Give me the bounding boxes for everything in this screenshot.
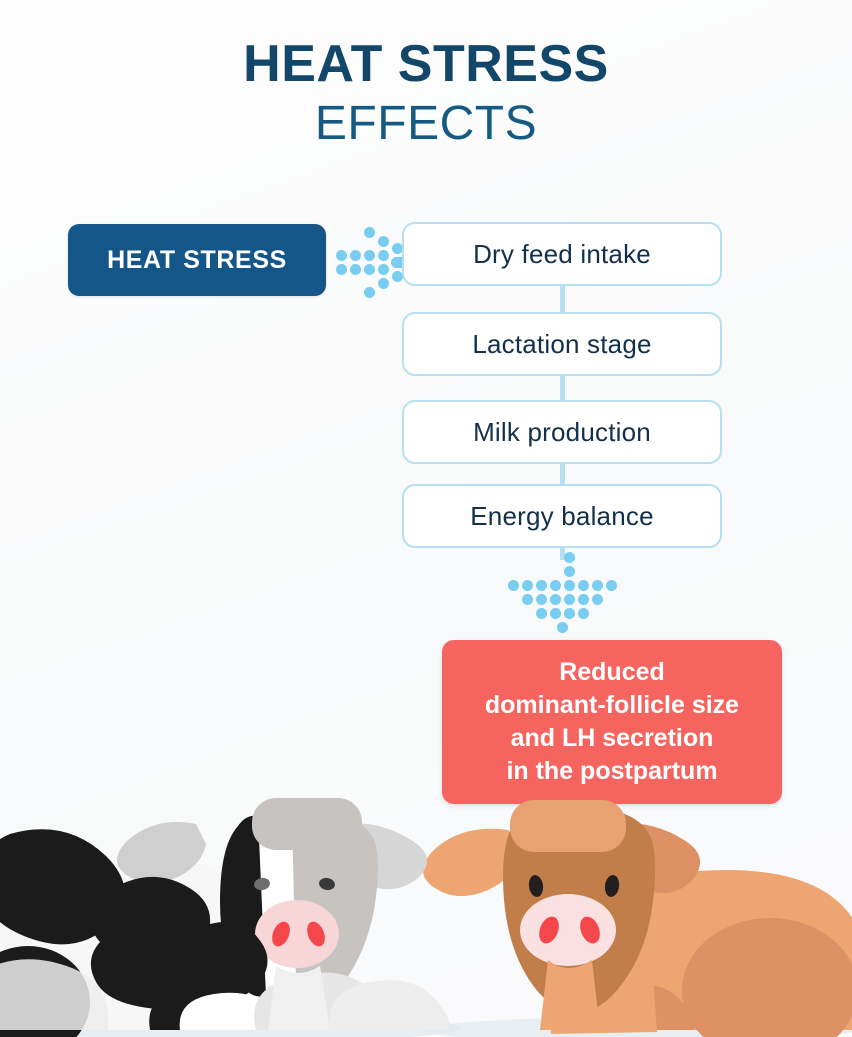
jersey-cow [423,800,852,1037]
flow-connector [560,374,565,402]
flow-box-label: Lactation stage [472,329,651,360]
outcome-box[interactable]: Reduced dominant-follicle size and LH se… [442,640,782,804]
flow-box-milk-production[interactable]: Milk production [402,400,722,464]
flow-connector [560,462,565,486]
flow-box-label: Energy balance [470,501,653,532]
title-line-primary: HEAT STRESS [0,38,852,90]
heat-stress-badge-label: HEAT STRESS [107,246,287,275]
flow-connector [560,284,565,314]
title-line-secondary: EFFECTS [0,100,852,148]
dotted-arrow-right-icon [336,228,406,292]
flow-box-energy-balance[interactable]: Energy balance [402,484,722,548]
holstein-cow [0,798,450,1037]
muzzle [255,900,339,968]
outcome-text: Reduced dominant-follicle size and LH se… [475,656,749,788]
flow-box-dry-feed-intake[interactable]: Dry feed intake [402,222,722,286]
flow-box-lactation-stage[interactable]: Lactation stage [402,312,722,376]
heat-stress-badge[interactable]: HEAT STRESS [68,224,326,296]
dotted-arrow-down-icon [508,552,632,628]
infographic-canvas: HEAT STRESS EFFECTS HEAT STRESS Dry feed… [0,0,852,1037]
muzzle [520,894,616,966]
flow-box-label: Dry feed intake [473,239,651,270]
page-title: HEAT STRESS EFFECTS [0,38,852,148]
flow-box-label: Milk production [473,417,651,448]
cow-illustrations [0,790,852,1037]
